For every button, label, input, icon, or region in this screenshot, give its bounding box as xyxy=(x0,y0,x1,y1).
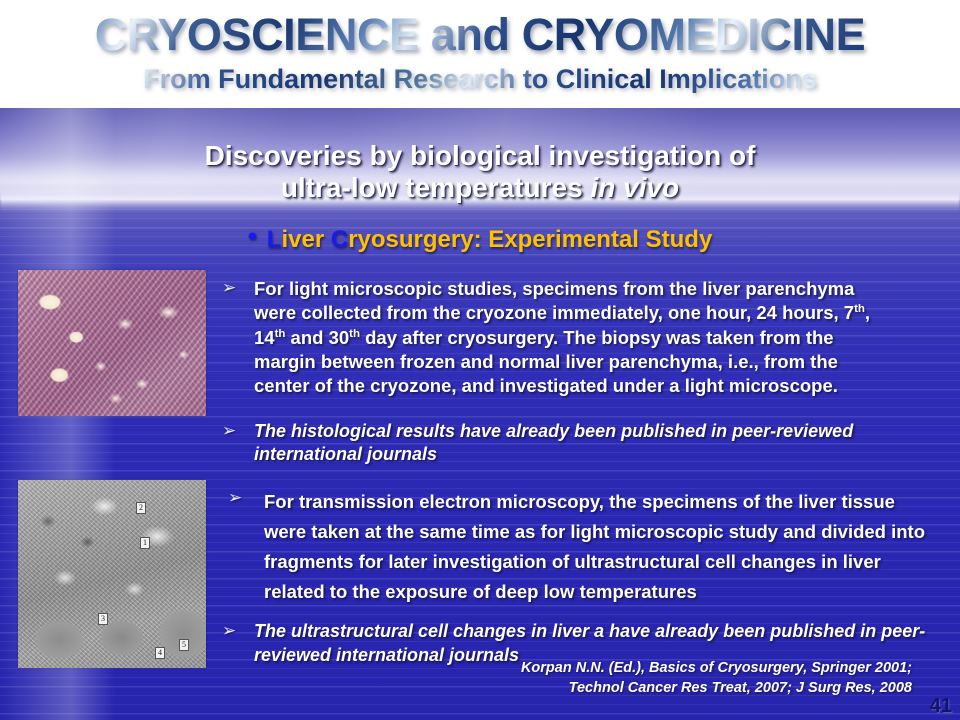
arrow-bullet-icon: ➢ xyxy=(222,620,254,668)
bullet-item-2: ➢ The histological results have already … xyxy=(222,420,922,467)
arrow-bullet-icon: ➢ xyxy=(222,277,254,399)
bullet-3-text: For transmission electron microscopy, th… xyxy=(264,487,928,607)
tem-label-3: 3 xyxy=(98,613,108,625)
citation: Korpan N.N. (Ed.), Basics of Cryosurgery… xyxy=(392,658,912,698)
bullet-item-3: ➢ For transmission electron microscopy, … xyxy=(228,487,928,607)
subtitle-text-cryosurgery: ryosurgery: Experimental Study xyxy=(348,226,712,253)
page-title-line-1: Discoveries by biological investigation … xyxy=(205,140,756,171)
tem-label-2: 2 xyxy=(136,502,146,514)
page-title-line-2-italic: in vivo xyxy=(590,172,679,203)
subtitle-cap-l: L xyxy=(267,226,282,253)
subtitle-bullet-row: •Liver Cryosurgery: Experimental Study xyxy=(60,222,900,253)
citation-line-1: Korpan N.N. (Ed.), Basics of Cryosurgery… xyxy=(392,658,912,678)
slide-number: 41 xyxy=(930,695,952,718)
header-banner: CRYOSCIENCE and CRYOMEDICINE From Fundam… xyxy=(0,0,960,108)
bullet-2-text: The histological results have already be… xyxy=(254,420,922,467)
citation-line-2: Technol Cancer Res Treat, 2007; J Surg R… xyxy=(392,678,912,698)
tem-label-1: 1 xyxy=(140,537,150,549)
tem-label-4: 4 xyxy=(155,647,165,659)
header-main-title: CRYOSCIENCE and CRYOMEDICINE xyxy=(0,12,960,57)
subtitle-text-liver: iver xyxy=(281,226,330,253)
histology-image xyxy=(18,270,206,416)
tem-image: 2 1 3 4 5 xyxy=(18,480,206,668)
page-title-line-2-prefix: ultra-low temperatures xyxy=(281,172,591,203)
page-title: Discoveries by biological investigation … xyxy=(60,140,900,205)
header-subtitle: From Fundamental Research to Clinical Im… xyxy=(0,66,960,93)
tem-label-5: 5 xyxy=(179,639,189,651)
arrow-bullet-icon: ➢ xyxy=(228,487,264,607)
bullet-item-1: ➢ For light microscopic studies, specime… xyxy=(222,277,882,399)
arrow-bullet-icon: ➢ xyxy=(222,420,254,467)
presentation-slide: CRYOSCIENCE and CRYOMEDICINE From Fundam… xyxy=(0,0,960,720)
bullet-dot-icon: • xyxy=(248,221,257,251)
subtitle-cap-c: C xyxy=(331,226,348,253)
bullet-1-text: For light microscopic studies, specimens… xyxy=(254,277,882,399)
